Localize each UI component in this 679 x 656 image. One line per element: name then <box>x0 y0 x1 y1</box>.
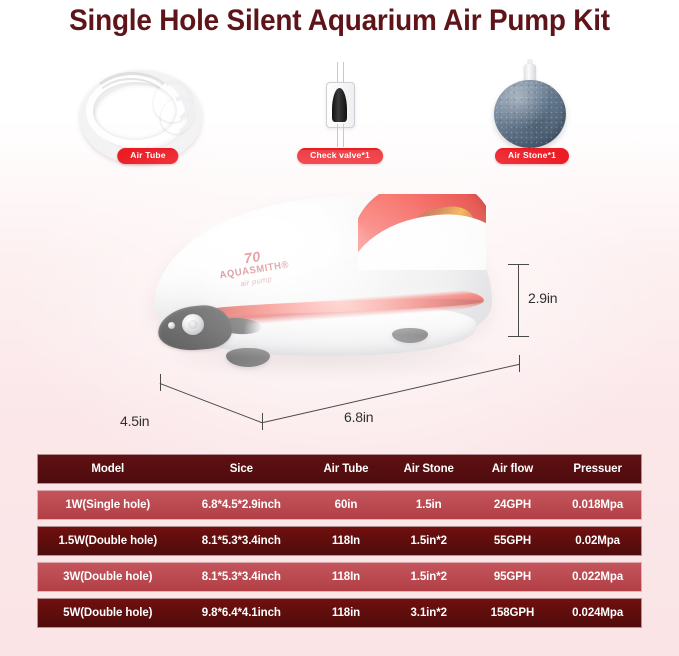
cell-air-stone: 1.5in <box>387 499 471 511</box>
accessory-air-stone: Air Stone*1 <box>442 62 622 172</box>
pump-outlet-nozzle-inner <box>188 320 198 329</box>
dimension-width-tick-right <box>519 355 520 372</box>
table-header-row: Model Sice Air Tube Air Stone Air flow P… <box>37 454 642 484</box>
cell-pressure: 0.022Mpa <box>554 571 641 583</box>
table-row: 1W(Single hole) 6.8*4.5*2.9inch 60in 1.5… <box>37 490 642 520</box>
cell-air-tube: 118In <box>305 571 387 583</box>
cell-air-flow: 95GPH <box>471 571 555 583</box>
dimension-height-cap-bottom <box>508 336 529 337</box>
product-infographic: Single Hole Silent Aquarium Air Pump Kit… <box>0 0 679 656</box>
stone-texture <box>494 80 566 148</box>
cell-model: 1W(Single hole) <box>38 499 178 511</box>
page-title: Single Hole Silent Aquarium Air Pump Kit <box>24 4 655 38</box>
dimension-height-line <box>518 264 519 336</box>
spec-table: Model Sice Air Tube Air Stone Air flow P… <box>37 454 642 634</box>
pump-outlet-screw <box>168 322 175 329</box>
accessory-check-valve: Check valve*1 <box>250 62 430 172</box>
cell-size: 8.1*5.3*3.4inch <box>178 535 306 547</box>
header-size: Sice <box>178 463 306 475</box>
cell-model: 3W(Double hole) <box>38 571 178 583</box>
cell-size: 8.1*5.3*3.4inch <box>178 571 306 583</box>
cell-model: 1.5W(Double hole) <box>38 535 178 547</box>
header-air-stone: Air Stone <box>387 463 471 475</box>
cell-air-stone: 3.1in*2 <box>387 607 471 619</box>
valve-stem-bottom <box>337 124 344 147</box>
pump-top-vent <box>358 194 486 270</box>
badge-check-valve: Check valve*1 <box>297 148 383 164</box>
cell-air-flow: 55GPH <box>471 535 555 547</box>
cell-pressure: 0.024Mpa <box>554 607 641 619</box>
header-air-tube: Air Tube <box>305 463 387 475</box>
cell-size: 6.8*4.5*2.9inch <box>178 499 306 511</box>
table-row: 3W(Double hole) 8.1*5.3*3.4inch 118In 1.… <box>37 562 642 592</box>
air-stone-illustration <box>442 62 622 148</box>
cell-air-stone: 1.5in*2 <box>387 571 471 583</box>
cell-air-tube: 60in <box>305 499 387 511</box>
cell-air-flow: 24GPH <box>471 499 555 511</box>
header-pressure: Pressuer <box>554 463 641 475</box>
cell-air-tube: 118In <box>305 535 387 547</box>
cell-air-tube: 118in <box>305 607 387 619</box>
cell-size: 9.8*6.4*4.1inch <box>178 607 306 619</box>
cell-pressure: 0.018Mpa <box>554 499 641 511</box>
cell-air-flow: 158GPH <box>471 607 555 619</box>
dimension-height-label: 2.9in <box>528 290 557 306</box>
cell-air-stone: 1.5in*2 <box>387 535 471 547</box>
badge-air-tube: Air Tube <box>117 148 178 164</box>
header-model: Model <box>38 463 178 475</box>
air-tube-illustration <box>58 62 238 148</box>
cell-pressure: 0.02Mpa <box>554 535 641 547</box>
table-row: 5W(Double hole) 9.8*6.4*4.1inch 118in 3.… <box>37 598 642 628</box>
dimension-height-cap-top <box>508 264 529 265</box>
badge-air-stone: Air Stone*1 <box>495 148 569 164</box>
header-air-flow: Air flow <box>471 463 555 475</box>
cell-model: 5W(Double hole) <box>38 607 178 619</box>
check-valve-illustration <box>250 62 430 148</box>
air-pump-illustration: 70 AQUASMITH® air pump <box>146 186 506 396</box>
table-row: 1.5W(Double hole) 8.1*5.3*3.4inch 118In … <box>37 526 642 556</box>
accessory-air-tube: Air Tube <box>58 62 238 172</box>
dimension-depth-label: 4.5in <box>120 413 149 429</box>
dimension-width-label: 6.8in <box>344 409 373 425</box>
